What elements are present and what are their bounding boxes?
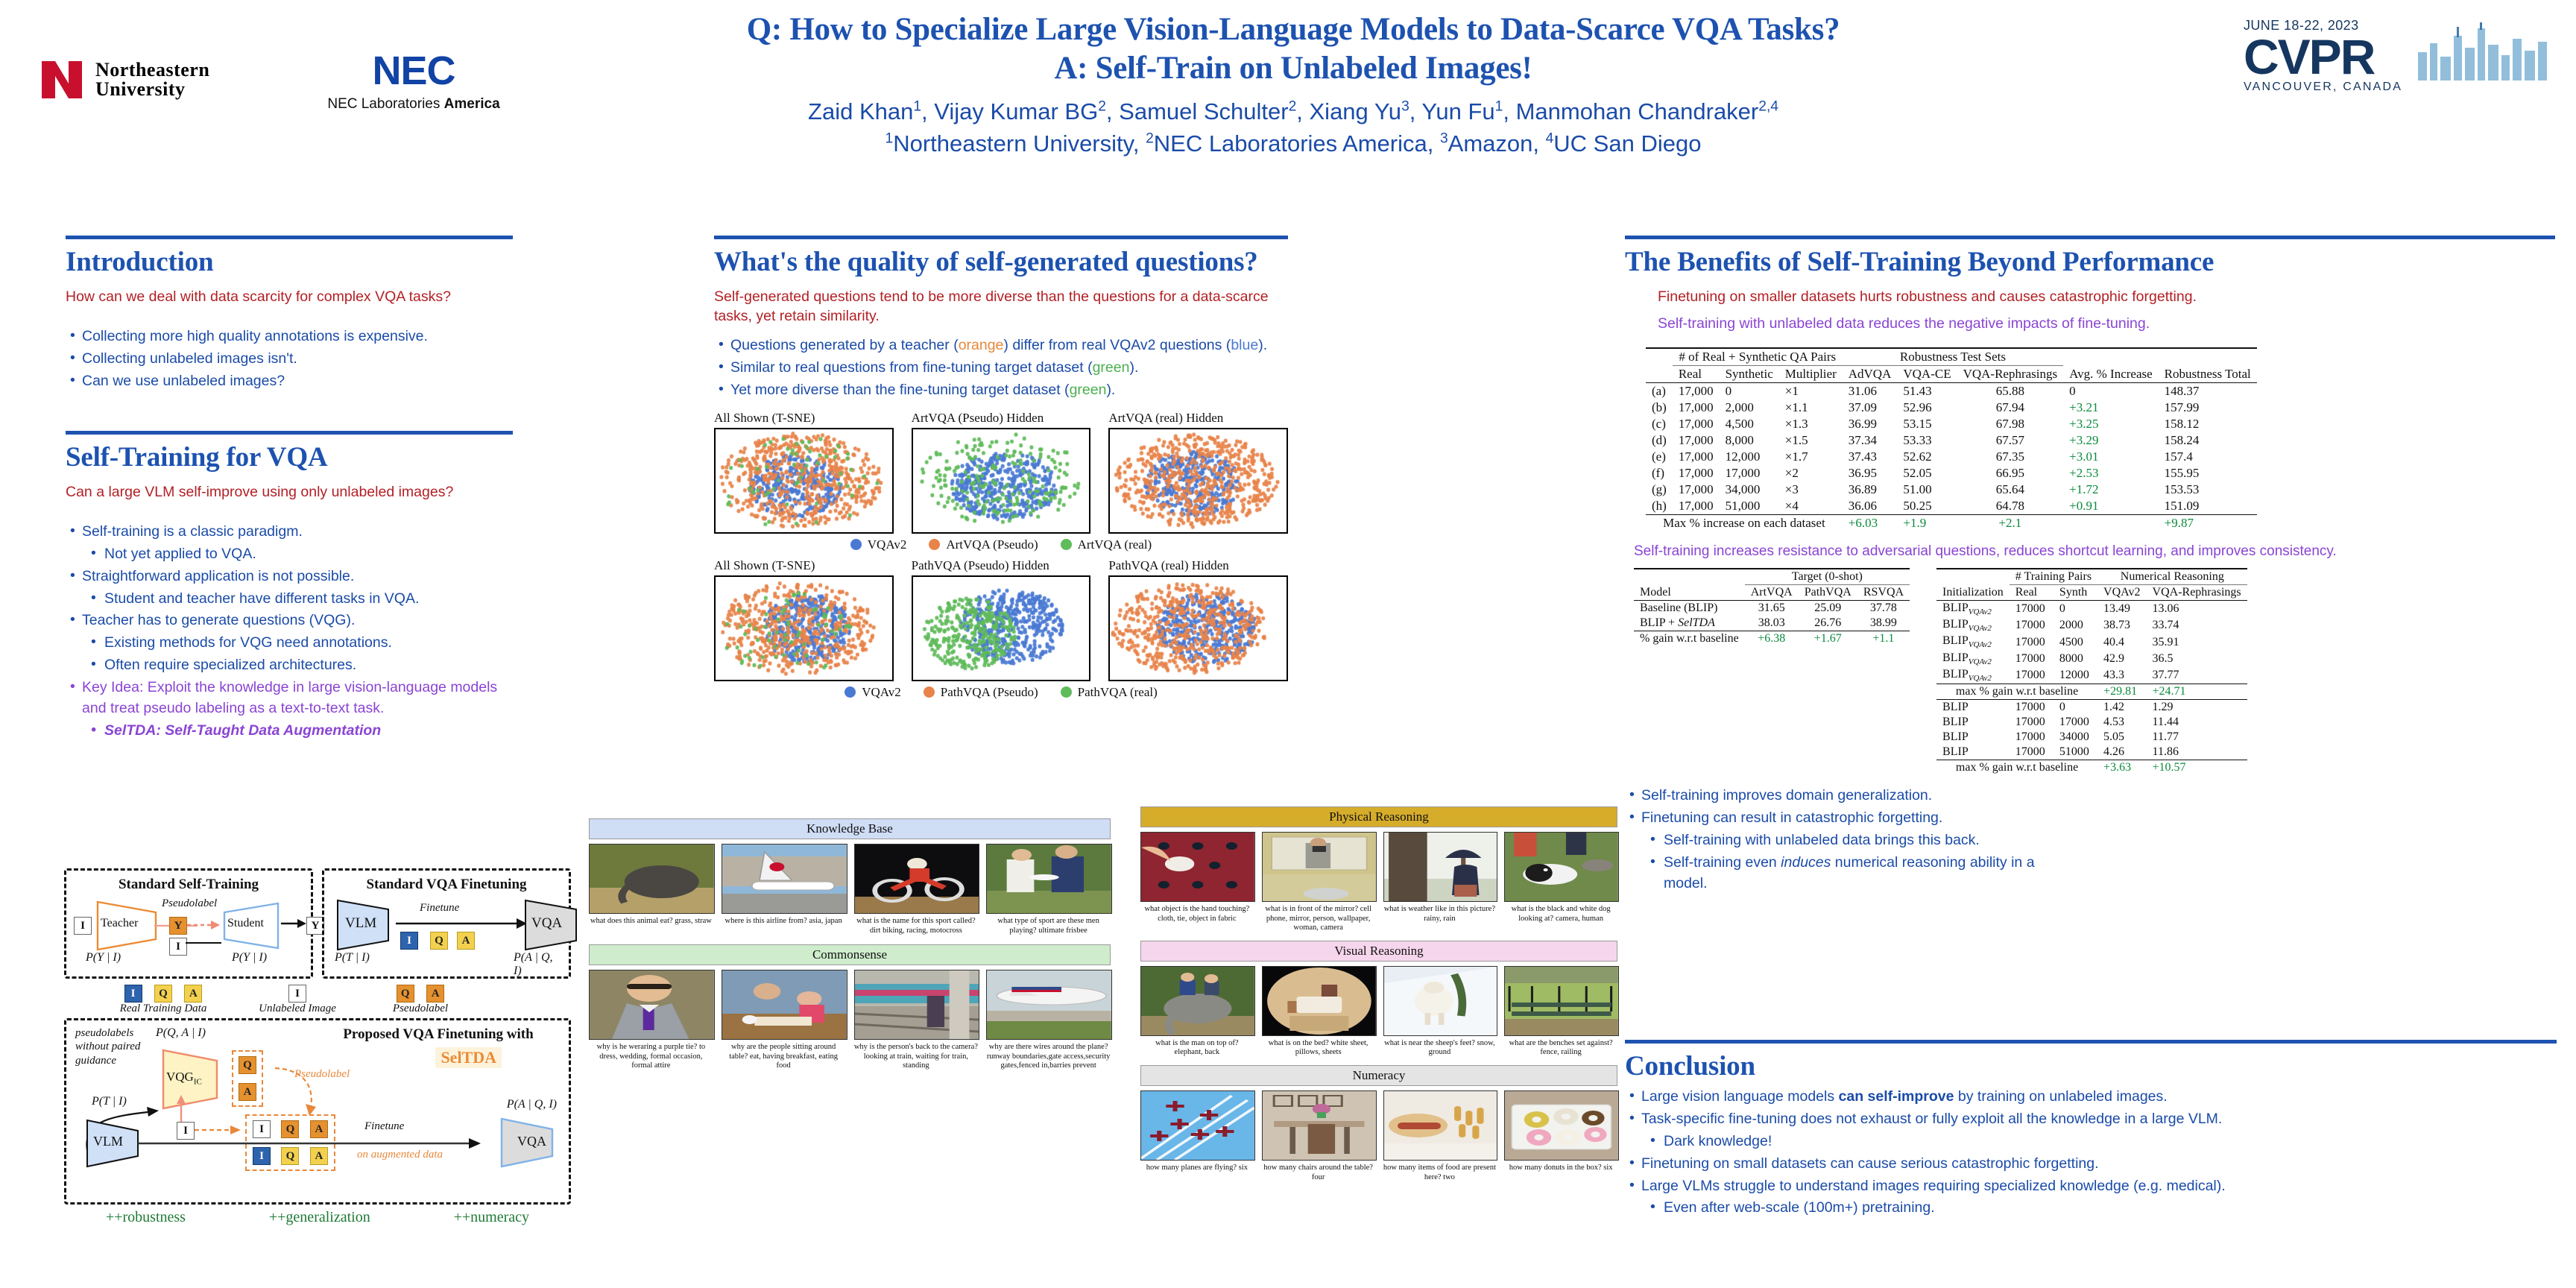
caption: what is weather like in this picture? ra… bbox=[1383, 905, 1497, 924]
section-title-conclusion: Conclusion bbox=[1625, 1050, 2557, 1082]
column-left-selftraining: Self-Training for VQA Can a large VLM se… bbox=[66, 431, 513, 743]
table-footer-row: max % gain w.r.t baseline+29.81+24.71 bbox=[1936, 684, 2247, 700]
qual-item: where is this airline from? asia, japan bbox=[722, 844, 846, 935]
section-title-self-training: Self-Training for VQA bbox=[66, 441, 513, 473]
cell-reph: 37.77 bbox=[2147, 667, 2247, 684]
introduction-lead: How can we deal with data scarcity for c… bbox=[66, 288, 513, 307]
cell-advqa: 37.43 bbox=[1843, 449, 1898, 465]
token-answer-yellow: A bbox=[457, 932, 475, 950]
table-header-row: Model ArtVQA PathVQA RSVQA bbox=[1634, 585, 1910, 601]
tsne-title: PathVQA (Pseudo) Hidden bbox=[912, 558, 1091, 573]
footer-reph: +10.57 bbox=[2147, 760, 2247, 776]
list-item: Often require specialized architectures. bbox=[66, 655, 513, 676]
nec-wordmark: NEC bbox=[291, 51, 537, 91]
legend-label: PathVQA (real) bbox=[1078, 685, 1158, 699]
quality-lead: Self-generated questions tend to be more… bbox=[714, 288, 1288, 326]
panel3-pqa-label: P(Q, A | I) bbox=[156, 1026, 206, 1040]
note-part-3: , and improves bbox=[2163, 543, 2260, 559]
image-row: what object is the hand touching? cloth,… bbox=[1140, 832, 1617, 933]
table-row: BLIPVQAv217000800042.936.5 bbox=[1936, 651, 2247, 667]
band-title: Numeracy bbox=[1140, 1065, 1617, 1086]
caption: how many donuts in the box? six bbox=[1504, 1164, 1617, 1173]
cell-synth: 17000 bbox=[2053, 715, 2097, 730]
row-tag: (d) bbox=[1646, 432, 1673, 449]
group-header-target: Target (0-shot) bbox=[1745, 569, 1910, 585]
tsne-cell: ArtVQA (Pseudo) Hidden bbox=[912, 411, 1091, 534]
legend-swatch-pseudo bbox=[929, 539, 940, 550]
cell-init: BLIP bbox=[1936, 745, 2010, 760]
panel2-vlm-label: VLM bbox=[345, 915, 376, 932]
cell-vqace: 52.96 bbox=[1897, 400, 1957, 416]
qual-item: what is near the sheep's feet? snow, gro… bbox=[1383, 966, 1497, 1058]
panel3-pseudolabel-label: Pseudolabel bbox=[294, 1068, 350, 1081]
diagram-gains-row: ++robustness ++generalization ++numeracy bbox=[64, 1209, 571, 1226]
table-group-header-row: Target (0-shot) bbox=[1634, 569, 1910, 585]
table-row: (b)17,0002,000×1.137.0952.9667.94+3.2115… bbox=[1646, 400, 2257, 416]
table-row: (a)17,0000×131.0651.4365.880148.37 bbox=[1646, 383, 2257, 400]
token-question-orange: Q bbox=[281, 1120, 299, 1138]
cell-total: 157.4 bbox=[2159, 449, 2257, 465]
table-row: BLIP17000340005.0511.77 bbox=[1936, 730, 2247, 745]
photo-man-suit bbox=[589, 970, 715, 1040]
photo-airplane-tail bbox=[722, 844, 847, 914]
footer-rsvqa: +1.1 bbox=[1857, 631, 1910, 647]
color-word-blue: blue bbox=[1231, 337, 1258, 353]
cell-real: 17000 bbox=[2010, 715, 2053, 730]
row-tag: (g) bbox=[1646, 482, 1673, 498]
row-tag: (e) bbox=[1646, 449, 1673, 465]
panel3-prob-vqa: P(A | Q, I) bbox=[507, 1098, 557, 1111]
photo-tie-fabric bbox=[1140, 832, 1255, 902]
caption: why is he weraring a purple tie? to dres… bbox=[589, 1043, 713, 1071]
table-row: (c)17,0004,500×1.336.9953.1567.98+3.2515… bbox=[1646, 416, 2257, 432]
list-item: Questions generated by a teacher (orange… bbox=[714, 335, 1288, 356]
cell-avg: +3.25 bbox=[2063, 416, 2159, 432]
list-item: Straightforward application is not possi… bbox=[66, 566, 513, 587]
caption: why are there wires around the plane? ru… bbox=[986, 1043, 1111, 1071]
cell-synth: 51,000 bbox=[1720, 498, 1779, 515]
row-tag: (h) bbox=[1646, 498, 1673, 515]
token-answer-orange: A bbox=[239, 1083, 256, 1101]
nec-sublabel: NEC Laboratories America bbox=[291, 96, 537, 113]
photo-elephant-ride bbox=[1140, 966, 1255, 1036]
list-item: Self-training with unlabeled data brings… bbox=[1625, 830, 2042, 851]
cell-reph: 36.5 bbox=[2147, 651, 2247, 667]
photo-motocross bbox=[854, 844, 980, 914]
color-word-green: green bbox=[1093, 359, 1130, 376]
cell-artvqa: 31.65 bbox=[1745, 601, 1799, 616]
cell-synth: 12000 bbox=[2053, 667, 2097, 684]
arrow-finetune-icon bbox=[396, 918, 527, 929]
scatter-plot bbox=[912, 428, 1091, 534]
band-title: Physical Reasoning bbox=[1140, 806, 1617, 827]
cell-vqav2: 1.42 bbox=[2097, 700, 2146, 716]
cell-synth: 12,000 bbox=[1720, 449, 1779, 465]
qual-item: what is weather like in this picture? ra… bbox=[1383, 832, 1497, 933]
legend-swatch-pseudo bbox=[924, 686, 935, 698]
note-part-4: . bbox=[2332, 543, 2336, 559]
panel3-aug-label: on augmented data bbox=[357, 1149, 443, 1161]
cell-reph: 67.98 bbox=[1957, 416, 2064, 432]
cell-synth: 0 bbox=[2053, 601, 2097, 617]
list-item: Large vision language models can self-im… bbox=[1625, 1087, 2557, 1108]
cell-vqav2: 5.05 bbox=[2097, 730, 2146, 745]
caption: why are the people sitting around table?… bbox=[722, 1043, 846, 1071]
skyline-icon bbox=[2415, 22, 2557, 80]
list-item: Collecting unlabeled images isn't. bbox=[66, 349, 513, 370]
col-vqace: VQA-CE bbox=[1897, 365, 1957, 382]
method-diagram: Standard Self-Training I Teacher Pseudol… bbox=[64, 868, 571, 1226]
cell-pathvqa: 26.76 bbox=[1799, 616, 1857, 631]
list-item: Self-training is a classic paradigm. bbox=[66, 522, 513, 543]
token-answer-orange: A bbox=[426, 985, 444, 1003]
group-header-robustness: Robustness Test Sets bbox=[1843, 348, 2063, 366]
cell-mult: ×1.5 bbox=[1779, 432, 1843, 449]
photo-frisbee bbox=[986, 844, 1112, 914]
northeastern-mark-icon bbox=[39, 57, 85, 103]
qual-item: how many donuts in the box? six bbox=[1504, 1090, 1617, 1182]
image-row: why is he weraring a purple tie? to dres… bbox=[589, 970, 1111, 1071]
cell-mult: ×1.1 bbox=[1779, 400, 1843, 416]
cell-vqace: 51.43 bbox=[1897, 383, 1957, 400]
introduction-bullets: Collecting more high quality annotations… bbox=[66, 326, 513, 392]
cell-reph: 67.57 bbox=[1957, 432, 2064, 449]
table-row: BLIP17000510004.2611.86 bbox=[1936, 745, 2247, 760]
cell-init: BLIPVQAv2 bbox=[1936, 651, 2010, 667]
caption: what type of sport are these men playing… bbox=[986, 917, 1111, 935]
token-answer-yellow: A bbox=[184, 985, 202, 1003]
footer-artvqa: +6.38 bbox=[1745, 631, 1799, 647]
col-synthetic: Synthetic bbox=[1720, 365, 1779, 382]
benefits-bullets: Self-training improves domain generaliza… bbox=[1625, 786, 2042, 894]
northeastern-line2: University bbox=[95, 78, 186, 100]
note-part-1: Self-training increases resistance to bbox=[1634, 543, 1862, 559]
diagram-panel-standard-vqa-finetuning: Standard VQA Finetuning VLM Finetune I Q… bbox=[322, 868, 571, 979]
legend-entry: PathVQA (Pseudo) bbox=[924, 685, 1038, 700]
list-item: Collecting more high quality annotations… bbox=[66, 326, 513, 347]
tsne-cell: All Shown (T-SNE) bbox=[714, 411, 894, 534]
cell-advqa: 36.95 bbox=[1843, 465, 1898, 482]
cell-avg: 0 bbox=[2063, 383, 2159, 400]
legend-entry: ArtVQA (Pseudo) bbox=[929, 537, 1038, 552]
cell-real: 17,000 bbox=[1673, 449, 1720, 465]
table-row: BLIP17000170004.5311.44 bbox=[1936, 715, 2247, 730]
list-item: Similar to real questions from fine-tuni… bbox=[714, 358, 1288, 379]
target-zeroshot-table: Target (0-shot) Model ArtVQA PathVQA RSV… bbox=[1634, 568, 1910, 646]
legend-swatch-vqav2 bbox=[845, 686, 856, 698]
tsne-title: ArtVQA (Pseudo) Hidden bbox=[912, 411, 1091, 426]
cell-pathvqa: 25.09 bbox=[1799, 601, 1857, 616]
legend-label: ArtVQA (real) bbox=[1078, 537, 1152, 552]
cell-vqace: 50.25 bbox=[1897, 498, 1957, 515]
list-item: Student and teacher have different tasks… bbox=[66, 589, 513, 610]
cell-synth: 51000 bbox=[2053, 745, 2097, 760]
benefits-lead-red: Finetuning on smaller datasets hurts rob… bbox=[1625, 288, 2555, 307]
qualitative-left: Knowledge Base what does this animal eat… bbox=[589, 818, 1111, 1071]
legend-pseudolabel: Pseudolabel bbox=[361, 1003, 480, 1015]
cell-rsvqa: 37.78 bbox=[1857, 601, 1910, 616]
list-item: Teacher has to generate questions (VQG). bbox=[66, 610, 513, 631]
panel2-prob-right: P(A | Q, I) bbox=[514, 951, 561, 978]
qual-item: what are the benches set against? fence,… bbox=[1504, 966, 1617, 1058]
nec-logo: NEC NEC Laboratories America bbox=[291, 51, 537, 113]
table-row: Baseline (BLIP)31.6525.0937.78 bbox=[1634, 601, 1910, 616]
qual-item: how many planes are flying? six bbox=[1140, 1090, 1254, 1182]
legend-swatch-real bbox=[1061, 686, 1072, 698]
cell-reph: 67.35 bbox=[1957, 449, 2064, 465]
photo-dining-table bbox=[1262, 1090, 1377, 1161]
table-footer-row: max % gain w.r.t baseline+3.63+10.57 bbox=[1936, 760, 2247, 776]
cell-total: 148.37 bbox=[2159, 383, 2257, 400]
photo-breakfast bbox=[722, 970, 847, 1040]
cell-real: 17000 bbox=[2010, 634, 2053, 650]
token-image-white: I bbox=[288, 985, 306, 1003]
cell-advqa: 31.06 bbox=[1843, 383, 1898, 400]
panel3-brand-seltda: SelTDA bbox=[435, 1047, 502, 1068]
qual-item: why is the person's back to the camera? … bbox=[854, 970, 979, 1071]
panel2-finetune-label: Finetune bbox=[420, 902, 459, 915]
cell-real: 17,000 bbox=[1673, 400, 1720, 416]
cell-vqav2: 38.73 bbox=[2097, 617, 2146, 634]
note-part-2: , reduces bbox=[1996, 543, 2058, 559]
cell-reph: 33.74 bbox=[2147, 617, 2247, 634]
tsne-cell: All Shown (T-SNE) bbox=[714, 558, 894, 681]
token-question-yellow: Q bbox=[281, 1147, 299, 1165]
group-header-qa-pairs: # of Real + Synthetic QA Pairs bbox=[1673, 348, 1843, 366]
photo-train-platform bbox=[854, 970, 980, 1040]
photo-plane-fence bbox=[986, 970, 1112, 1040]
list-item: Large VLMs struggle to understand images… bbox=[1625, 1176, 2557, 1197]
cell-init: BLIPVQAv2 bbox=[1936, 634, 2010, 650]
caption: what object is the hand touching? cloth,… bbox=[1140, 905, 1254, 924]
cell-vqace: 53.33 bbox=[1897, 432, 1957, 449]
cell-synth: 17,000 bbox=[1720, 465, 1779, 482]
cell-real: 17000 bbox=[2010, 700, 2053, 716]
self-training-lead: Can a large VLM self-improve using only … bbox=[66, 483, 513, 502]
cell-advqa: 36.99 bbox=[1843, 416, 1898, 432]
photo-park-benches bbox=[1504, 966, 1619, 1036]
column-left: Introduction How can we deal with data s… bbox=[66, 236, 513, 394]
qual-item: what is on the bed? white sheet, pillows… bbox=[1262, 966, 1375, 1058]
tsne-cell: PathVQA (Pseudo) Hidden bbox=[912, 558, 1091, 681]
list-item: Finetuning on small datasets can cause s… bbox=[1625, 1154, 2557, 1175]
tsne-row-artvqa: All Shown (T-SNE) ArtVQA (Pseudo) Hidden… bbox=[714, 411, 1288, 534]
footer-total: +9.87 bbox=[2159, 514, 2257, 531]
image-row: what is the man on top of? elephant, bac… bbox=[1140, 966, 1617, 1058]
scatter-plot bbox=[1108, 428, 1288, 534]
table-row: BLIPVQAv217000200038.7333.74 bbox=[1936, 617, 2247, 634]
list-item: Not yet applied to VQA. bbox=[66, 544, 513, 565]
cell-reph: 66.95 bbox=[1957, 465, 2064, 482]
photo-sheep-snow bbox=[1383, 966, 1498, 1036]
table-row: BLIPVQAv217000450040.435.91 bbox=[1936, 634, 2247, 650]
text-bold: can self-improve bbox=[1839, 1088, 1954, 1105]
list-item: Finetuning can result in catastrophic fo… bbox=[1625, 808, 2042, 829]
tsne-legend-artvqa: VQAv2 ArtVQA (Pseudo) ArtVQA (real) bbox=[714, 537, 1288, 552]
panel3-vqa-label: VQA bbox=[517, 1134, 546, 1149]
legend-entry: ArtVQA (real) bbox=[1061, 537, 1152, 552]
list-item: Even after web-scale (100m+) pretraining… bbox=[1625, 1198, 2557, 1219]
legend-label: PathVQA (Pseudo) bbox=[941, 685, 1038, 699]
gain-generalization: ++generalization bbox=[269, 1209, 370, 1226]
numerical-reasoning-table: # Training PairsNumerical Reasoning Init… bbox=[1936, 568, 2247, 775]
table-header-row: Real Synthetic Multiplier AdVQA VQA-CE V… bbox=[1646, 365, 2257, 382]
legend-entry: PathVQA (real) bbox=[1061, 685, 1158, 700]
cell-init: BLIP bbox=[1936, 700, 2010, 716]
col-initialization: Initialization bbox=[1936, 585, 2010, 601]
gain-numeracy: ++numeracy bbox=[454, 1209, 529, 1226]
table-row: BLIPVQAv2170001200043.337.77 bbox=[1936, 667, 2247, 684]
qual-item: what type of sport are these men playing… bbox=[986, 844, 1111, 935]
robustness-table: # of Real + Synthetic QA Pairs Robustnes… bbox=[1646, 347, 2257, 531]
affiliation-list: 1Northeastern University, 2NEC Laborator… bbox=[566, 130, 2020, 157]
photo-hotdog-fries bbox=[1383, 1090, 1498, 1161]
section-title-quality: What's the quality of self-generated que… bbox=[714, 246, 1288, 278]
tsne-title: PathVQA (real) Hidden bbox=[1108, 558, 1288, 573]
caption: what does this animal eat? grass, straw bbox=[589, 917, 713, 926]
table-row: (e)17,00012,000×1.737.4352.6267.35+3.011… bbox=[1646, 449, 2257, 465]
list-item: Key Idea: Exploit the knowledge in large… bbox=[66, 678, 513, 719]
token-question-yellow: Q bbox=[430, 932, 448, 950]
caption: what are the benches set against? fence,… bbox=[1504, 1039, 1617, 1058]
caption: what is near the sheep's feet? snow, gro… bbox=[1383, 1039, 1497, 1058]
scatter-plot bbox=[714, 428, 894, 534]
qual-group-physical-reasoning: Physical Reasoning what object is the ha… bbox=[1140, 806, 1617, 933]
panel1-prob-left: P(Y | I) bbox=[86, 951, 121, 965]
col-real: Real bbox=[2010, 585, 2053, 601]
list-item: SelTDA: Self-Taught Data Augmentation bbox=[66, 721, 513, 742]
caption: what is the black and white dog looking … bbox=[1504, 905, 1617, 924]
cell-avg: +0.91 bbox=[2063, 498, 2159, 515]
legend-entry: VQAv2 bbox=[850, 537, 907, 552]
cell-reph: 67.94 bbox=[1957, 400, 2064, 416]
cell-real: 17,000 bbox=[1673, 498, 1720, 515]
cell-synth: 2000 bbox=[2053, 617, 2097, 634]
cell-model: Baseline (BLIP) bbox=[1634, 601, 1745, 616]
group-header-training-pairs: # Training Pairs bbox=[2010, 569, 2097, 585]
cell-init: BLIPVQAv2 bbox=[1936, 601, 2010, 617]
table-group-header-row: # of Real + Synthetic QA Pairs Robustnes… bbox=[1646, 348, 2257, 366]
cell-rsvqa: 38.99 bbox=[1857, 616, 1910, 631]
panel1-prob-right: P(Y | I) bbox=[232, 951, 267, 965]
caption: what is the name for this sport called? … bbox=[854, 917, 979, 935]
qual-item: why are there wires around the plane? ru… bbox=[986, 970, 1111, 1071]
footer-label: % gain w.r.t baseline bbox=[1634, 631, 1745, 647]
cell-synth: 34000 bbox=[2053, 730, 2097, 745]
token-image-blue: I bbox=[124, 985, 142, 1003]
tsne-legend-pathvqa: VQAv2 PathVQA (Pseudo) PathVQA (real) bbox=[714, 685, 1288, 700]
cell-vqav2: 4.26 bbox=[2097, 745, 2146, 760]
qual-group-visual-reasoning: Visual Reasoning what is the man on top … bbox=[1140, 941, 1617, 1058]
col-pathvqa: PathVQA bbox=[1799, 585, 1857, 601]
panel2-prob-left: P(T | I) bbox=[335, 951, 370, 965]
author-list: Zaid Khan1, Vijay Kumar BG2, Samuel Schu… bbox=[566, 96, 2020, 127]
cell-synth: 4500 bbox=[2053, 634, 2097, 650]
cell-vqav2: 13.49 bbox=[2097, 601, 2146, 617]
token-image-2: I bbox=[169, 938, 187, 956]
cell-init: BLIP bbox=[1936, 730, 2010, 745]
cell-model: BLIP + SelTDA bbox=[1634, 616, 1745, 631]
token-answer-orange: A bbox=[310, 1120, 328, 1138]
table-row: BLIP + SelTDA38.0326.7638.99 bbox=[1634, 616, 1910, 631]
arrow-image-to-group-icon bbox=[195, 1125, 242, 1135]
cell-real: 17,000 bbox=[1673, 416, 1720, 432]
caption: how many planes are flying? six bbox=[1140, 1164, 1254, 1173]
tsne-row-pathvqa: All Shown (T-SNE) PathVQA (Pseudo) Hidde… bbox=[714, 558, 1288, 681]
cell-vqav2: 42.9 bbox=[2097, 651, 2146, 667]
cell-avg: +3.29 bbox=[2063, 432, 2159, 449]
cell-init: BLIPVQAv2 bbox=[1936, 667, 2010, 684]
footer-vqav2: +3.63 bbox=[2097, 760, 2146, 776]
column-right: The Benefits of Self-Training Beyond Per… bbox=[1625, 236, 2555, 895]
section-rule-self-training bbox=[66, 431, 513, 435]
list-item: Task-specific fine-tuning does not exhau… bbox=[1625, 1109, 2557, 1130]
northeastern-wordmark: Northeastern University bbox=[95, 60, 209, 99]
qualitative-right: Physical Reasoning what object is the ha… bbox=[1140, 806, 1617, 1182]
photo-donut-box bbox=[1504, 1090, 1619, 1161]
cell-reph: 65.64 bbox=[1957, 482, 2064, 498]
legend-swatch-real bbox=[1061, 539, 1072, 550]
list-item: Yet more diverse than the fine-tuning ta… bbox=[714, 380, 1288, 401]
footer-label: max % gain w.r.t baseline bbox=[1936, 760, 2097, 776]
benefits-note: Self-training increases resistance to ad… bbox=[1625, 542, 2555, 561]
tsne-title: ArtVQA (real) Hidden bbox=[1108, 411, 1288, 426]
table-group-header-row: # Training PairsNumerical Reasoning bbox=[1936, 569, 2247, 585]
cell-synth: 8,000 bbox=[1720, 432, 1779, 449]
token-question-yellow: Q bbox=[154, 985, 172, 1003]
cell-synth: 34,000 bbox=[1720, 482, 1779, 498]
nec-sub-bold: America bbox=[444, 96, 500, 112]
cell-real: 17,000 bbox=[1673, 482, 1720, 498]
caption: what is on the bed? white sheet, pillows… bbox=[1262, 1039, 1375, 1058]
panel3-vqg-label: VQGIC bbox=[166, 1070, 202, 1086]
col-real: Real bbox=[1673, 365, 1720, 382]
arrow-pseudolabel-icon bbox=[187, 920, 221, 930]
row-tag: (b) bbox=[1646, 400, 1673, 416]
cell-real: 17000 bbox=[2010, 667, 2053, 684]
token-image-blue: I bbox=[400, 932, 418, 950]
cell-mult: ×1.7 bbox=[1779, 449, 1843, 465]
col-multiplier: Multiplier bbox=[1779, 365, 1843, 382]
col-artvqa: ArtVQA bbox=[1745, 585, 1799, 601]
band-title: Knowledge Base bbox=[589, 818, 1111, 839]
caption: how many chairs around the table? four bbox=[1262, 1164, 1375, 1182]
cell-real: 17,000 bbox=[1673, 465, 1720, 482]
cell-mult: ×4 bbox=[1779, 498, 1843, 515]
panel1-teacher-label: Teacher bbox=[101, 917, 138, 930]
tsne-cell: PathVQA (real) Hidden bbox=[1108, 558, 1288, 681]
cell-avg: +1.72 bbox=[2063, 482, 2159, 498]
note-adversarial: adversarial questions bbox=[1862, 543, 1996, 559]
qual-item: why are the people sitting around table?… bbox=[722, 970, 846, 1071]
qual-item: what is the name for this sport called? … bbox=[854, 844, 979, 935]
cell-total: 158.24 bbox=[2159, 432, 2257, 449]
qual-item: what is in front of the mirror? cell pho… bbox=[1262, 832, 1375, 933]
token-question-orange: Q bbox=[397, 985, 414, 1003]
list-item: Dark knowledge! bbox=[1625, 1131, 2557, 1152]
photo-dogs-grass bbox=[1504, 832, 1619, 902]
cell-synth: 2,000 bbox=[1720, 400, 1779, 416]
image-row: what does this animal eat? grass, straw … bbox=[589, 844, 1111, 935]
cell-reph: 1.29 bbox=[2147, 700, 2247, 716]
cell-mult: ×1.3 bbox=[1779, 416, 1843, 432]
photo-planes-sky bbox=[1140, 1090, 1255, 1161]
cell-vqace: 52.05 bbox=[1897, 465, 1957, 482]
legend-label: VQAv2 bbox=[862, 685, 901, 699]
panel3-finetune-label: Finetune bbox=[364, 1120, 404, 1133]
poster-root: Northeastern University NEC NEC Laborato… bbox=[0, 0, 2576, 1288]
section-title-introduction: Introduction bbox=[66, 246, 513, 278]
